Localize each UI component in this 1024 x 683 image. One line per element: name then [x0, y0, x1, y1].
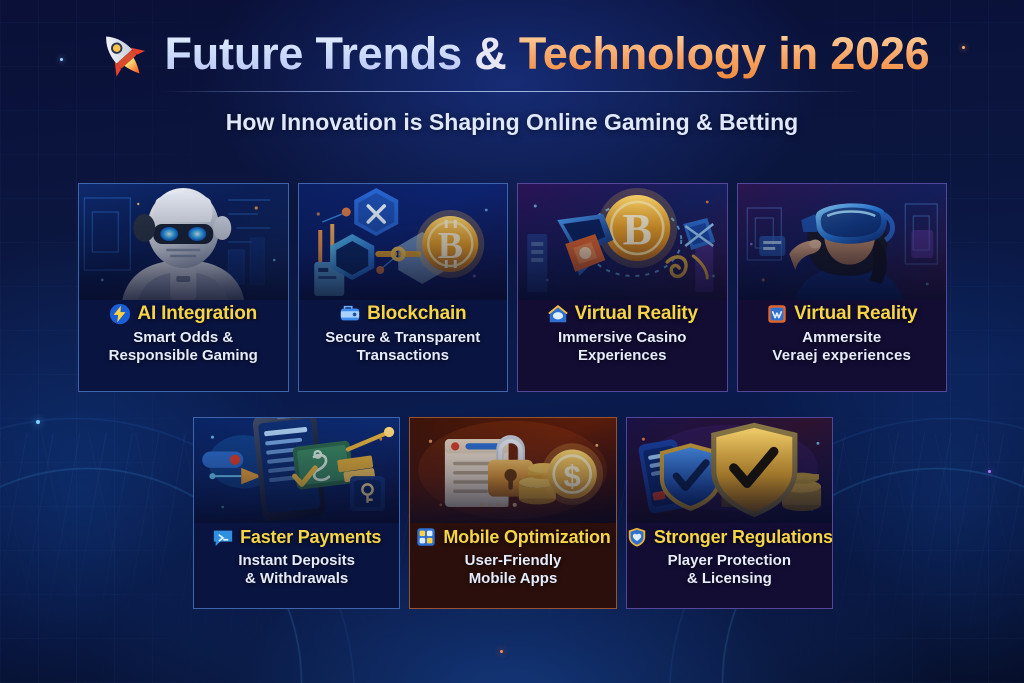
card-text-block: Virtual Reality Immersive Casino Experie… — [518, 300, 727, 391]
feature-row-top: AI Integration Smart Odds & Responsible … — [78, 183, 947, 392]
card-title: Blockchain — [367, 303, 466, 325]
page-subtitle: How Innovation is Shaping Online Gaming … — [0, 109, 1024, 136]
card-title: Faster Payments — [240, 527, 381, 548]
card-subtitle: Smart Odds & Responsible Gaming — [109, 329, 258, 365]
card-subtitle: Ammersite Veraej experiences — [772, 329, 911, 365]
card-subtitle-line2: Responsible Gaming — [109, 347, 258, 365]
robot-ai-art — [79, 184, 288, 300]
feature-row-bottom: Faster Payments Instant Deposits & Withd… — [193, 417, 833, 609]
card-subtitle-line1: Player Protection — [668, 552, 791, 569]
svg-text:$: $ — [564, 458, 581, 493]
card-subtitle-line2: Veraej experiences — [772, 347, 911, 365]
card-subtitle: Player Protection & Licensing — [668, 552, 791, 588]
feature-card-ai-integration[interactable]: AI Integration Smart Odds & Responsible … — [78, 183, 289, 392]
feature-card-faster-payments[interactable]: Faster Payments Instant Deposits & Withd… — [193, 417, 400, 609]
card-subtitle: Secure & Transparent Transactions — [325, 329, 480, 365]
card-heading: Blockchain — [339, 303, 466, 325]
svg-text:B: B — [623, 205, 652, 254]
title-segment-ampersand: & — [474, 28, 519, 79]
card-text-block: AI Integration Smart Odds & Responsible … — [79, 300, 288, 391]
card-heading: Faster Payments — [212, 526, 381, 548]
card-heading: Virtual Reality — [766, 303, 917, 325]
card-subtitle: Immersive Casino Experiences — [558, 329, 686, 365]
title-segment-warm: Technology in 2026 — [519, 28, 930, 79]
card-subtitle-line1: User-Friendly — [465, 552, 562, 569]
card-subtitle-line1: Ammersite — [802, 329, 881, 346]
wallet-icon — [339, 303, 361, 325]
infographic-canvas: Future Trends & Technology in 2026 How I… — [0, 0, 1024, 683]
title-row: Future Trends & Technology in 2026 — [0, 26, 1024, 82]
card-subtitle-line1: Instant Deposits — [238, 552, 355, 569]
card-heading: Stronger Regulations — [626, 526, 833, 548]
lock-coins-art: $ — [410, 418, 615, 523]
card-text-block: Mobile Optimization User-Friendly Mobile… — [410, 523, 615, 608]
card-artwork-vr-person — [738, 184, 947, 300]
speech-bubble-icon — [212, 526, 234, 548]
card-text-block: Virtual Reality Ammersite Veraej experie… — [738, 300, 947, 391]
ambient-spark — [500, 650, 503, 653]
blockchain-bitcoin-art: B — [299, 184, 508, 300]
card-subtitle-line2: Mobile Apps — [465, 570, 562, 588]
card-subtitle-line1: Smart Odds & — [133, 329, 233, 346]
card-artwork-blockchain: B — [299, 184, 508, 300]
svg-text:B: B — [437, 225, 462, 267]
header: Future Trends & Technology in 2026 How I… — [0, 26, 1024, 136]
vr-house-icon — [547, 303, 569, 325]
rocket-icon — [94, 26, 150, 82]
vr-casino-coin-art: B — [518, 184, 727, 300]
card-subtitle-line2: & Withdrawals — [238, 570, 355, 588]
card-title: AI Integration — [137, 303, 257, 325]
card-artwork-mobile-lock: $ — [410, 418, 615, 523]
card-heading: Mobile Optimization — [415, 526, 610, 548]
card-subtitle-line2: Transactions — [325, 347, 480, 365]
card-subtitle-line1: Secure & Transparent — [325, 329, 480, 346]
feature-card-stronger-regulations[interactable]: Stronger Regulations Player Protection &… — [626, 417, 833, 609]
card-title: Virtual Reality — [575, 303, 698, 325]
card-subtitle-line2: Experiences — [558, 347, 686, 365]
card-title: Mobile Optimization — [443, 527, 610, 548]
card-artwork-vr-casino: B — [518, 184, 727, 300]
title-divider — [162, 91, 862, 92]
ambient-spark — [36, 420, 40, 424]
vr-badge-icon — [766, 303, 788, 325]
mobile-grid-icon — [415, 526, 437, 548]
shield-heart-icon — [626, 526, 648, 548]
card-artwork-robot — [79, 184, 288, 300]
card-heading: Virtual Reality — [547, 303, 698, 325]
card-subtitle: User-Friendly Mobile Apps — [465, 552, 562, 588]
title-segment-cool: Future Trends — [164, 28, 474, 79]
card-subtitle-line1: Immersive Casino — [558, 329, 686, 346]
feature-card-mobile-optimization[interactable]: $ M — [409, 417, 616, 609]
card-text-block: Stronger Regulations Player Protection &… — [627, 523, 832, 608]
card-subtitle: Instant Deposits & Withdrawals — [238, 552, 355, 588]
ambient-spark — [988, 470, 991, 473]
vr-headset-person-art — [738, 184, 947, 300]
feature-card-blockchain[interactable]: B Blockchain Secure & Transparent — [298, 183, 509, 392]
page-title: Future Trends & Technology in 2026 — [164, 28, 929, 80]
feature-card-virtual-reality-headset[interactable]: Virtual Reality Ammersite Veraej experie… — [737, 183, 948, 392]
card-artwork-shields — [627, 418, 832, 523]
card-subtitle-line2: & Licensing — [668, 570, 791, 588]
lightning-bolt-icon — [109, 303, 131, 325]
shields-check-art — [627, 418, 832, 523]
card-artwork-payments — [194, 418, 399, 523]
feature-card-virtual-reality[interactable]: B — [517, 183, 728, 392]
card-title: Stronger Regulations — [654, 527, 833, 548]
card-heading: AI Integration — [109, 303, 257, 325]
card-text-block: Blockchain Secure & Transparent Transact… — [299, 300, 508, 391]
phone-payment-art — [194, 418, 399, 523]
card-title: Virtual Reality — [794, 303, 917, 325]
card-text-block: Faster Payments Instant Deposits & Withd… — [194, 523, 399, 608]
